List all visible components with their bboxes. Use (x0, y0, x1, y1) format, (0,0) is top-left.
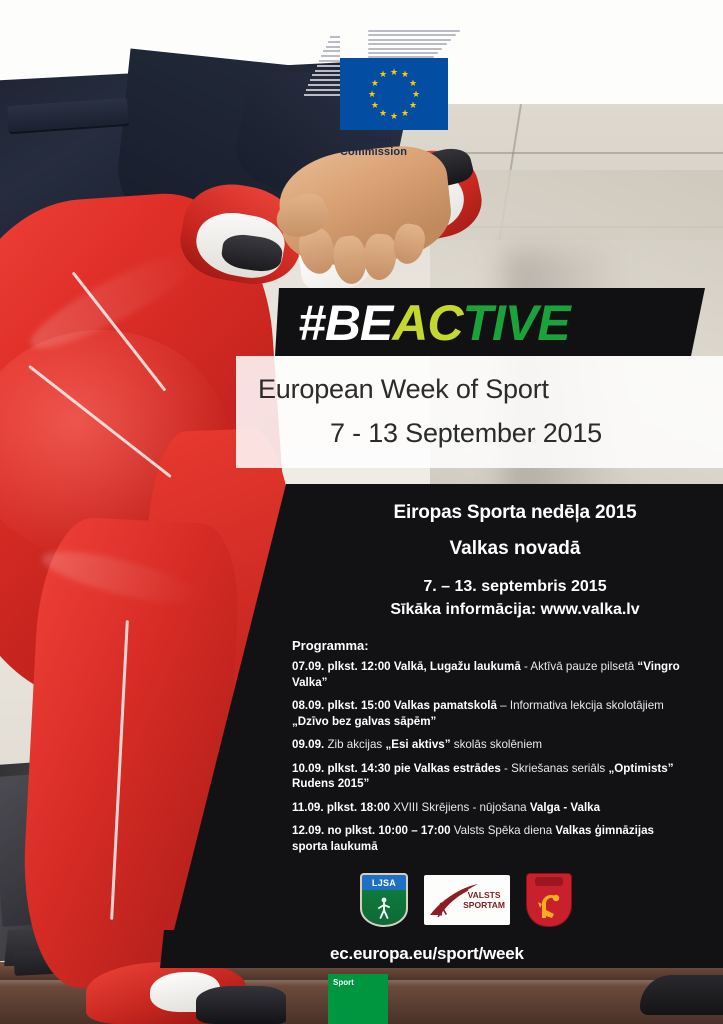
valka-coat-of-arms (526, 873, 572, 927)
eu-star-icon: ★ (412, 90, 421, 99)
commission-line-motif (300, 36, 340, 100)
motif-line (330, 36, 340, 38)
eu-caption-line2: Commission (340, 146, 460, 158)
motif-line (319, 60, 340, 62)
programme-entry-datetime: 07.09. plkst. 12:00 Valkā, Lugažu laukum… (292, 660, 521, 673)
eu-star-icon: ★ (409, 101, 418, 110)
eu-star-icon: ★ (390, 112, 399, 121)
programme-entry: 09.09. Zib akcijas „Esi aktivs” skolās s… (292, 737, 690, 753)
european-week-of-sport-title: European Week of Sport (258, 374, 658, 405)
motif-line (310, 79, 340, 81)
coat-of-arms-chief (535, 877, 563, 886)
programme-entry-description: skolās skolēniem (451, 738, 543, 751)
motif-line (368, 43, 447, 45)
motif-line (368, 48, 442, 50)
programme-entry-datetime: 09.09. (292, 738, 324, 751)
motif-line (328, 41, 340, 43)
office-chair (640, 975, 723, 1015)
eu-star-icon: ★ (368, 90, 377, 99)
programme-entry-description: XVIII Skrējiens - nūjošana (390, 801, 530, 814)
motif-line (312, 74, 340, 76)
programme-entry-description: Valsts Spēka diena (451, 824, 556, 837)
programme-list: 07.09. plkst. 12:00 Valkā, Lugažu laukum… (292, 659, 690, 862)
motif-line (368, 52, 438, 54)
sport-badge-label: Sport (333, 978, 354, 987)
sport-badge: Sport (328, 974, 388, 1024)
programme-entry: 12.09. no plkst. 10:00 – 17:00 Valsts Sp… (292, 823, 690, 854)
beactive-be: BE (325, 295, 392, 351)
eu-star-icon: ★ (409, 79, 418, 88)
programme-entry-description: - Skriešanas seriāls (501, 762, 609, 775)
motif-line (368, 30, 460, 32)
worn-sneaker-sole (196, 986, 286, 1024)
motif-line (317, 65, 340, 67)
beactive-tive: TIVE (463, 295, 570, 351)
local-info-website: Sīkāka informācija: www.valka.lv (320, 601, 710, 619)
local-title-line2: Valkas novadā (330, 538, 700, 560)
programme-entry-datetime: 08.09. plkst. 15:00 Valkas pamatskolā (292, 699, 497, 712)
programme-entry: 07.09. plkst. 12:00 Valkā, Lugažu laukum… (292, 659, 690, 690)
programme-entry: 10.09. plkst. 14:30 pie Valkas estrādes … (292, 761, 690, 792)
motif-line (326, 46, 340, 48)
eu-star-icon: ★ (370, 79, 379, 88)
motif-line (368, 34, 456, 36)
beactive-poster: ★★★★★★★★★★★★ European Commission #BEACTI… (0, 0, 723, 1024)
lion-icon (536, 890, 562, 920)
local-title-line1: Eiropas Sporta nedēļa 2015 (330, 502, 700, 524)
european-week-of-sport-dates: 7 - 13 September 2015 (330, 418, 670, 449)
motif-line (315, 70, 340, 72)
motif-line (308, 84, 340, 86)
eu-star-icon: ★ (379, 109, 388, 118)
programme-entry-datetime: 10.09. plkst. 14:30 pie Valkas estrādes (292, 762, 501, 775)
beactive-ac: AC (392, 295, 462, 351)
programme-entry-description: - Aktīvā pauze pilsetā (521, 660, 638, 673)
programme-entry-description: Zib akcijas (324, 738, 385, 751)
ljsa-logo-text: LJSA (362, 878, 406, 888)
ljsa-logo: LJSA (360, 873, 408, 927)
programme-entry-datetime: 12.09. no plkst. 10:00 – 17:00 (292, 824, 451, 837)
sponsor-logos: LJSA VALSTS SPORTAM (360, 872, 590, 928)
programme-entry-highlight: „Dzīvo bez galvas sāpēm” (292, 715, 436, 728)
eu-flag-icon: ★★★★★★★★★★★★ (340, 58, 448, 130)
programme-entry: 11.09. plkst. 18:00 XVIII Skrējiens - nū… (292, 800, 690, 816)
eu-star-icon: ★ (370, 101, 379, 110)
beactive-wordmark: #BEACTIVE (298, 294, 698, 352)
motif-line (321, 55, 340, 57)
european-commission-logo: ★★★★★★★★★★★★ European Commission (300, 30, 460, 142)
athlete-figure-icon (377, 897, 391, 919)
eu-caption-line1: European (340, 134, 460, 146)
motif-line (368, 39, 451, 41)
motif-line (323, 50, 340, 52)
programme-entry-highlight: Valga - Valka (530, 801, 600, 814)
eu-logo-caption: European Commission (340, 134, 460, 158)
local-dates: 7. – 13. septembris 2015 (330, 578, 700, 596)
programme-entry-datetime: 11.09. plkst. 18:00 (292, 801, 390, 814)
beactive-hash: # (298, 295, 325, 351)
eu-star-icon: ★ (401, 109, 410, 118)
programme-entry-description: – Informativa lekcija skolotājiem (497, 699, 664, 712)
motif-line (306, 89, 340, 91)
programme-label: Programma: (292, 638, 369, 653)
programme-entry-highlight: „Esi aktivs” (385, 738, 450, 751)
eu-star-icon: ★ (390, 68, 399, 77)
programme-entry: 08.09. plkst. 15:00 Valkas pamatskolā – … (292, 698, 690, 729)
swoosh-icon (428, 881, 480, 919)
campaign-url: ec.europa.eu/sport/week (330, 944, 670, 964)
valsts-sportam-logo: VALSTS SPORTAM (424, 875, 510, 925)
motif-line (304, 94, 340, 96)
eu-star-icon: ★ (379, 70, 388, 79)
subtitle-band (236, 356, 723, 468)
